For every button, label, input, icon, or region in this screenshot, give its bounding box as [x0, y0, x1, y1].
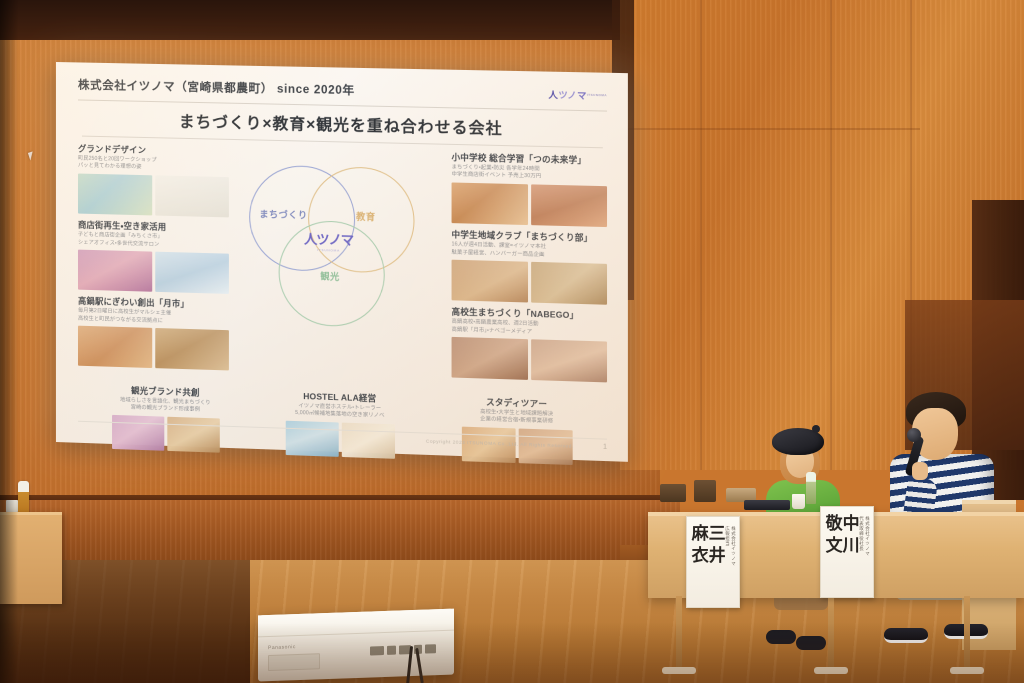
- laptop-device[interactable]: [744, 500, 790, 510]
- placard-role-text: 株式会社イツノマ 広報担当: [725, 526, 737, 566]
- company-logo: 人ツノマ ITSUNOMA: [548, 87, 607, 101]
- company-logo-sub: ITSUNOMA: [587, 93, 607, 97]
- block-subtext: 毎月第2日曜日に高校生がマルシェ主催 高校生と町民がつながる交流拠点に: [78, 308, 229, 328]
- beret-hat: [772, 428, 824, 455]
- scene-stage: 株式会社イツノマ（宮崎県都農町） since 2020年 人ツノマ ITSUNO…: [0, 0, 1024, 683]
- paper-cup-desk: [792, 494, 805, 509]
- wall-seam: [700, 0, 702, 470]
- name-placard-mitsui: 三井 麻衣 株式会社イツノマ 広報担当: [686, 516, 740, 608]
- thumbnail-image: [531, 262, 607, 305]
- block-subtext: 16人が週4日活動、課室=イツノマ本社 駄菓子屋経営、ハンバーガー商品企画: [452, 241, 607, 260]
- block-thumbnails: [452, 337, 607, 383]
- thumbnail-image: [155, 175, 229, 217]
- venn-label-machizukuri: まちづくり: [259, 207, 307, 221]
- venn-center-logo-sub: ITSUNOMA: [317, 248, 340, 253]
- block-subtext: 子どもと商店街企画「みちくさ市」 シェアオフィス・多世代交流サロン: [78, 232, 229, 251]
- name-placard-nakagawa: 中川 敬文 株式会社イツノマ 代表取締役社長: [820, 506, 874, 598]
- thumbnail-image: [78, 174, 152, 216]
- slide-block-shotengai: 商店街再生・空き家活用 子どもと商店街企画「みちくさ市」 シェアオフィス・多世代…: [78, 221, 229, 294]
- block-subtext: 町民250名と20回ワークショップ パッと見てわかる理想の姿: [78, 155, 229, 174]
- thumbnail-image: [155, 252, 229, 294]
- slide-body: グランドデザイン 町民250名と20回ワークショップ パッと見てわかる理想の姿 …: [78, 145, 607, 398]
- shelf-item: [694, 480, 716, 502]
- speaker-right-hand: [912, 462, 928, 480]
- thumbnail-image: [78, 250, 152, 292]
- block-thumbnails: [78, 174, 229, 218]
- thumbnail-image: [531, 184, 607, 227]
- slide-block-takanabe-station: 高鍋駅にぎわい創出「月市」 毎月第2日曜日に高校生がマルシェ主催 高校生と町民が…: [78, 297, 229, 371]
- vignette-bottom: [0, 623, 1024, 683]
- vignette-left: [0, 0, 18, 683]
- slide-block-school-learning: 小中学校 総合学習「つの未来学」 まちづくり・起業・防災 各学年24時間 中学生…: [452, 153, 607, 227]
- wall-seam: [830, 0, 832, 470]
- venn-label-kyoiku: 教育: [356, 210, 375, 224]
- placard-name-text: 中川 敬文: [824, 514, 858, 597]
- thumbnail-image: [452, 337, 528, 380]
- slide-column-left: グランドデザイン 町民250名と20回ワークショップ パッと見てわかる理想の姿 …: [78, 145, 229, 386]
- block-thumbnails: [452, 182, 607, 227]
- wall-seam-horizontal: [620, 128, 920, 130]
- placard-role-text: 株式会社イツノマ 代表取締役社長: [859, 516, 871, 556]
- slide-page-number: 1: [603, 444, 607, 451]
- thumbnail-image: [452, 260, 528, 303]
- slide-header-title: 株式会社イツノマ（宮崎県都農町） since 2020年: [78, 76, 355, 98]
- block-thumbnails: [78, 250, 229, 294]
- slide-main-title: まちづくり×教育×観光を重ね合わせる会社: [78, 107, 607, 141]
- projection-screen: 株式会社イツノマ（宮崎県都農町） since 2020年 人ツノマ ITSUNO…: [56, 62, 628, 462]
- slide-content: 株式会社イツノマ（宮崎県都農町） since 2020年 人ツノマ ITSUNO…: [56, 62, 628, 462]
- block-subtext: 高鍋高校・高鍋農業高校、週2日活動 高鍋駅「月市」・ナベゴーメディア: [452, 319, 607, 339]
- microphone-head: [907, 428, 921, 442]
- thumbnail-image: [78, 326, 152, 368]
- venn-label-kanko: 観光: [320, 269, 339, 283]
- thumbnail-image: [155, 328, 229, 371]
- slide-block-junior-club: 中学生地域クラブ「まちづくり部」 16人が週4日活動、課室=イツノマ本社 駄菓子…: [452, 230, 607, 305]
- thumbnail-image: [531, 339, 607, 382]
- slide-block-grand-design: グランドデザイン 町民250名と20回ワークショップ パッと見てわかる理想の姿: [78, 145, 229, 218]
- venn-center-logo: 人ツノマ ITSUNOMA: [304, 228, 353, 253]
- water-bottle-desk: [806, 472, 816, 504]
- venn-diagram: まちづくり 教育 観光 人ツノマ ITSUNOMA: [241, 158, 425, 345]
- water-bottle: [18, 481, 29, 515]
- block-thumbnails: [452, 260, 607, 305]
- slide-column-center: まちづくり 教育 観光 人ツノマ ITSUNOMA: [235, 148, 445, 392]
- block-subtext: まちづくり・起業・防災 各学年24時間 中学生商店街イベント 予売上30万円: [452, 164, 607, 183]
- slide-header: 株式会社イツノマ（宮崎県都農町） since 2020年 人ツノマ ITSUNO…: [78, 76, 607, 108]
- shelf-item: [660, 484, 686, 502]
- placard-name-text: 三井 麻衣: [690, 524, 724, 607]
- block-thumbnails: [78, 326, 229, 371]
- slide-column-right: 小中学校 総合学習「つの未来学」 まちづくり・起業・防災 各学年24時間 中学生…: [452, 153, 607, 398]
- slide-block-nabego: 高校生まちづくり「NABEGO」 高鍋高校・高鍋農業高校、週2日活動 高鍋駅「月…: [452, 307, 607, 382]
- thumbnail-image: [452, 182, 528, 225]
